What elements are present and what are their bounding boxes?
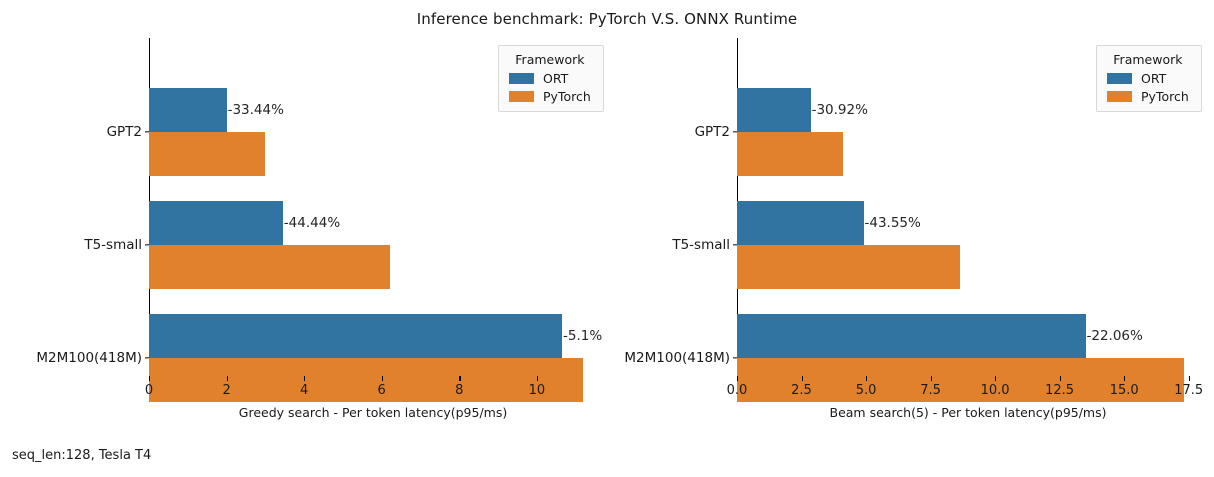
x-axis-label-left: Greedy search - Per token latency(p95/ms…	[149, 405, 597, 420]
y-tick-label-m2m100: M2M100(418M)	[624, 350, 737, 366]
table-row	[737, 245, 1199, 289]
x-tick-mark	[149, 376, 150, 381]
bar-pytorch-t5small[interactable]	[149, 245, 390, 289]
x-tick-label: 0.0	[727, 383, 748, 398]
x-tick-mark	[1060, 376, 1061, 381]
x-tick-mark	[459, 376, 460, 381]
x-axis-label-right: Beam search(5) - Per token latency(p95/m…	[737, 405, 1199, 420]
bar-label-t5small: -43.55%	[864, 215, 921, 231]
legend-swatch-icon-pytorch	[509, 91, 534, 102]
x-tick-mark	[1124, 376, 1125, 381]
legend-title: Framework	[509, 52, 591, 67]
x-tick-mark	[537, 376, 538, 381]
bar-ort-t5small[interactable]	[149, 201, 283, 245]
x-tick-label: 10.0	[981, 383, 1010, 398]
legend-swatch-icon-ort	[509, 73, 534, 84]
x-tick-mark	[1189, 376, 1190, 381]
x-tick-mark	[227, 376, 228, 381]
legend-label-pytorch: PyTorch	[543, 89, 591, 104]
legend-right: Framework ORT PyTorch	[1096, 45, 1202, 112]
bar-label-m2m100: -5.1%	[562, 328, 602, 344]
x-tick-label: 17.5	[1174, 383, 1203, 398]
table-row	[149, 132, 597, 176]
bar-ort-t5small[interactable]	[737, 201, 864, 245]
y-tick-label-gpt2: GPT2	[107, 124, 149, 140]
legend-label-ort: ORT	[543, 71, 568, 86]
legend-label-ort: ORT	[1141, 71, 1166, 86]
y-tick-label-t5-small: T5-small	[84, 237, 149, 253]
bar-ort-m2m100[interactable]	[737, 314, 1086, 358]
table-row: -22.06%	[737, 314, 1199, 358]
table-row: -44.44%	[149, 201, 597, 245]
bar-pytorch-m2m100[interactable]	[149, 358, 583, 402]
subplot-greedy-search: GPT2 -33.44% T5-small -44.44%	[0, 0, 607, 477]
legend-item-ort[interactable]: ORT	[1107, 71, 1189, 86]
y-tick-label-m2m100: M2M100(418M)	[36, 350, 149, 366]
legend-item-ort[interactable]: ORT	[509, 71, 591, 86]
bar-pytorch-gpt2[interactable]	[737, 132, 843, 176]
x-tick-label: 6	[378, 383, 386, 398]
x-tick-label: 0	[145, 383, 153, 398]
x-tick-label: 5.0	[856, 383, 877, 398]
x-tick-mark	[382, 376, 383, 381]
legend-item-pytorch[interactable]: PyTorch	[1107, 89, 1189, 104]
subplot-beam-search: GPT2 -30.92% T5-small -43.55%	[607, 0, 1214, 477]
figure-footer-note: seq_len:128, Tesla T4	[12, 448, 151, 463]
table-row: -43.55%	[737, 201, 1199, 245]
x-tick-label: 15.0	[1110, 383, 1139, 398]
x-tick-label: 2	[222, 383, 230, 398]
bar-label-m2m100: -22.06%	[1086, 328, 1143, 344]
x-tick-mark	[931, 376, 932, 381]
bar-ort-m2m100[interactable]	[149, 314, 562, 358]
x-tick-label: 12.5	[1045, 383, 1074, 398]
x-tick-label: 4	[300, 383, 308, 398]
x-tick-label: 2.5	[791, 383, 812, 398]
x-tick-label: 7.5	[920, 383, 941, 398]
x-tick-mark	[304, 376, 305, 381]
x-tick-mark	[995, 376, 996, 381]
legend-item-pytorch[interactable]: PyTorch	[509, 89, 591, 104]
legend-label-pytorch: PyTorch	[1141, 89, 1189, 104]
y-tick-label-t5-small: T5-small	[672, 237, 737, 253]
bar-ort-gpt2[interactable]	[149, 88, 227, 132]
x-tick-label: 8	[455, 383, 463, 398]
legend-swatch-icon-pytorch	[1107, 91, 1132, 102]
benchmark-figure: Inference benchmark: PyTorch V.S. ONNX R…	[0, 0, 1214, 477]
x-tick-mark	[866, 376, 867, 381]
bar-ort-gpt2[interactable]	[737, 88, 811, 132]
y-tick-label-gpt2: GPT2	[695, 124, 737, 140]
bar-label-t5small: -44.44%	[283, 215, 340, 231]
table-row	[149, 245, 597, 289]
bar-pytorch-gpt2[interactable]	[149, 132, 265, 176]
x-tick-mark	[802, 376, 803, 381]
table-row: -5.1%	[149, 314, 597, 358]
legend-title: Framework	[1107, 52, 1189, 67]
bar-pytorch-t5small[interactable]	[737, 245, 960, 289]
legend-left: Framework ORT PyTorch	[498, 45, 604, 112]
bar-label-gpt2: -33.44%	[227, 102, 284, 118]
x-tick-label: 10	[529, 383, 546, 398]
table-row	[737, 132, 1199, 176]
legend-swatch-icon-ort	[1107, 73, 1132, 84]
bar-label-gpt2: -30.92%	[811, 102, 868, 118]
x-tick-mark	[737, 376, 738, 381]
